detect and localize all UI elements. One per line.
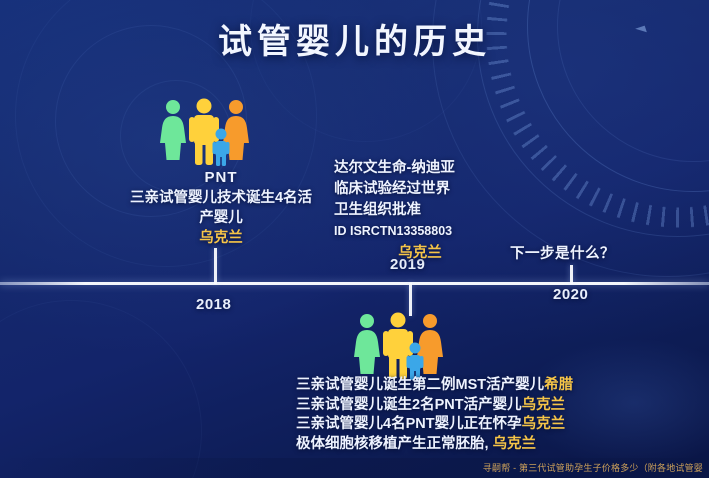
family-people-icon-top bbox=[158, 98, 254, 166]
woman-icon bbox=[160, 100, 186, 160]
page-title: 试管婴儿的历史 bbox=[0, 14, 709, 63]
event-2019-line2: 临床试验经过世界 bbox=[334, 179, 506, 200]
woman-icon bbox=[354, 314, 380, 374]
bottom-line-4-text: 极体细胞核移植产生正常胚胎, bbox=[296, 436, 493, 452]
timeline-year-2020: 2020 bbox=[553, 286, 588, 303]
bottom-line-4-country: 乌克兰 bbox=[493, 436, 537, 452]
event-2019-country: 乌克兰 bbox=[334, 243, 506, 264]
event-2018-country: 乌克兰 bbox=[110, 228, 332, 248]
event-2019-line1: 达尔文生命-纳迪亚 bbox=[334, 158, 506, 179]
event-block-2019-bottom: 三亲试管婴儿诞生第二例MST活产婴儿希腊 三亲试管婴儿诞生2名PNT活产婴儿乌克… bbox=[296, 376, 636, 454]
timeline-axis bbox=[0, 282, 709, 285]
event-2018-label: PNT bbox=[110, 168, 332, 188]
event-block-2019-top: 达尔文生命-纳迪亚 临床试验经过世界 卫生组织批准 ID ISRCTN13358… bbox=[334, 158, 506, 264]
watermark-text: 寻嗣帮 - 第三代试管助孕生子价格多少（附各地试管婴 bbox=[483, 461, 703, 474]
list-item: 三亲试管婴儿诞生2名PNT活产婴儿乌克兰 bbox=[296, 396, 636, 416]
decorative-circle bbox=[0, 300, 202, 478]
bottom-line-2-text: 三亲试管婴儿诞生2名PNT活产婴儿 bbox=[296, 397, 522, 413]
next-step-question: 下一步是什么？ bbox=[510, 242, 615, 263]
event-2019-trial-id: ID ISRCTN13358803 bbox=[334, 221, 506, 242]
bottom-line-2-country: 乌克兰 bbox=[522, 397, 566, 413]
bottom-line-1-text: 三亲试管婴儿诞生第二例MST活产婴儿 bbox=[296, 377, 544, 393]
list-item: 极体细胞核移植产生正常胚胎, 乌克兰 bbox=[296, 435, 636, 455]
timeline-tick-2020 bbox=[570, 265, 573, 284]
list-item: 三亲试管婴儿诞生第二例MST活产婴儿希腊 bbox=[296, 376, 636, 396]
timeline-tick-2018 bbox=[214, 248, 217, 284]
bottom-line-3-country: 乌克兰 bbox=[522, 416, 566, 432]
family-people-icon-bottom bbox=[352, 312, 448, 380]
event-2018-line1: 三亲试管婴儿技术诞生4名活 bbox=[110, 188, 332, 208]
timeline-year-2018: 2018 bbox=[196, 296, 231, 313]
bottom-line-1-country: 希腊 bbox=[544, 377, 573, 393]
event-2018-line2: 产婴儿 bbox=[110, 208, 332, 228]
man-icon bbox=[189, 99, 219, 166]
event-2019-line3: 卫生组织批准 bbox=[334, 200, 506, 221]
event-block-2018: PNT 三亲试管婴儿技术诞生4名活 产婴儿 乌克兰 bbox=[110, 168, 332, 248]
man-icon bbox=[383, 313, 413, 380]
list-item: 三亲试管婴儿4名PNT婴儿正在怀孕乌克兰 bbox=[296, 415, 636, 435]
slide-canvas: 试管婴儿的历史 2018 2019 2020 bbox=[0, 0, 709, 478]
bottom-line-3-text: 三亲试管婴儿4名PNT婴儿正在怀孕 bbox=[296, 416, 522, 432]
